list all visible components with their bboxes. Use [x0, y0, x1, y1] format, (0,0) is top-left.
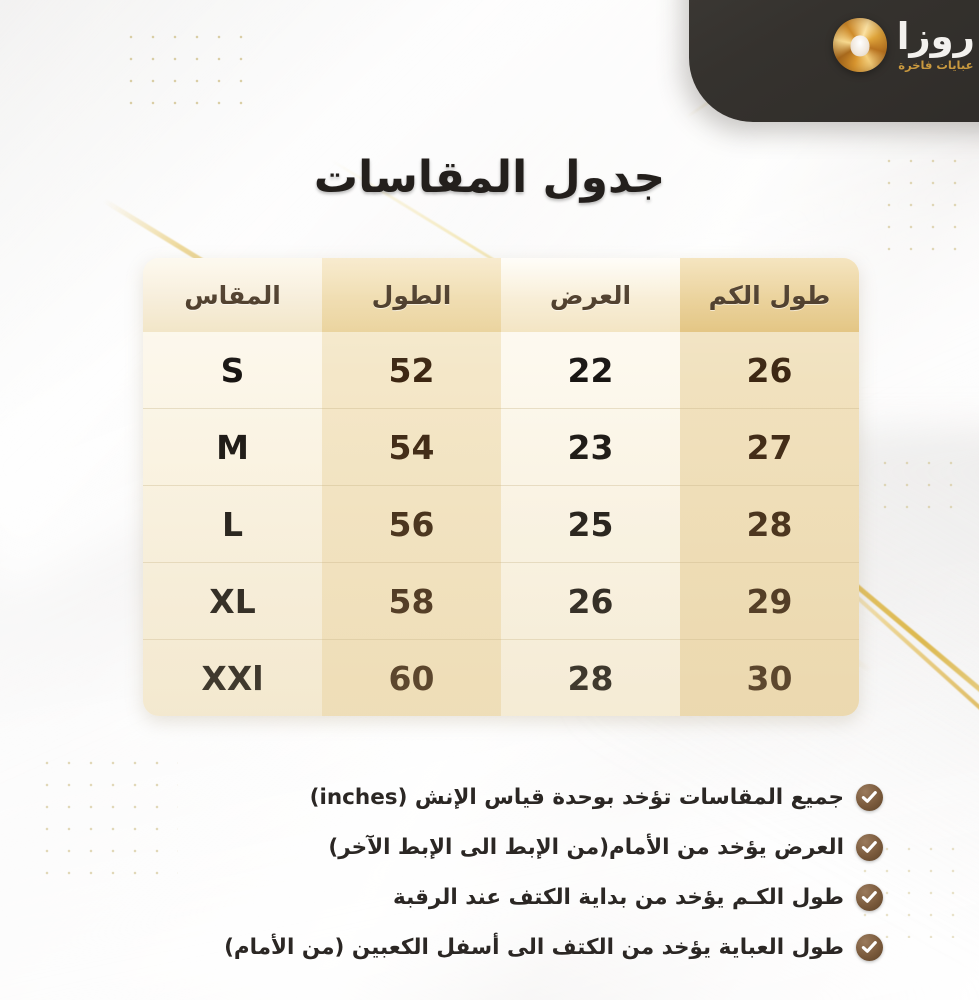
brand-logo: روزا عبايات فاخرة: [833, 18, 975, 72]
check-badge-icon: [856, 884, 883, 911]
brand-wordmark: روزا عبايات فاخرة: [897, 18, 975, 72]
cell-width: 22: [501, 332, 680, 409]
cell-size: S: [143, 332, 322, 409]
list-item: طول الكـم يؤخد من بداية الكتف عند الرقبة: [93, 872, 883, 922]
cell-length: 52: [322, 332, 501, 409]
column-header-size: المقاس: [143, 258, 322, 332]
cell-length: 60: [322, 640, 501, 717]
column-header-width: العرض: [501, 258, 680, 332]
cell-size: L: [143, 486, 322, 563]
list-item: جميع المقاسات تؤخد بوحدة قياس الإنش (inc…: [93, 772, 883, 822]
cell-length: 54: [322, 409, 501, 486]
cell-sleeve-length: 30: [680, 640, 859, 717]
cell-sleeve-length: 27: [680, 409, 859, 486]
dot-grid-middle-right: [874, 452, 966, 520]
size-table: طول الكم العرض الطول المقاس 26 22 52 S 2…: [143, 258, 859, 716]
note-text: طول العباية يؤخد من الكتف الى أسفل الكعب…: [224, 935, 844, 960]
check-badge-icon: [856, 834, 883, 861]
cell-width: 26: [501, 563, 680, 640]
check-badge-icon: [856, 784, 883, 811]
table-row: 28 25 56 L: [143, 486, 859, 563]
size-table-container: طول الكم العرض الطول المقاس 26 22 52 S 2…: [143, 258, 859, 716]
table-row: 29 26 58 XL: [143, 563, 859, 640]
size-table-body: 26 22 52 S 27 23 54 M 28 25 56 L: [143, 332, 859, 716]
column-header-length: الطول: [322, 258, 501, 332]
rose-swirl-icon: [833, 18, 887, 72]
cell-width: 28: [501, 640, 680, 717]
cell-size: M: [143, 409, 322, 486]
size-table-header: طول الكم العرض الطول المقاس: [143, 258, 859, 332]
note-text: جميع المقاسات تؤخد بوحدة قياس الإنش (inc…: [310, 785, 844, 810]
cell-size: XL: [143, 563, 322, 640]
page-title: جدول المقاسات: [0, 152, 979, 203]
list-item: طول العباية يؤخد من الكتف الى أسفل الكعب…: [93, 922, 883, 972]
table-row: 26 22 52 S: [143, 332, 859, 409]
cell-sleeve-length: 29: [680, 563, 859, 640]
brand-logo-panel: روزا عبايات فاخرة: [689, 0, 979, 122]
dot-grid-top-left: [120, 26, 250, 114]
note-text: العرض يؤخد من الأمام(من الإبط الى الإبط …: [328, 835, 844, 860]
cell-length: 58: [322, 563, 501, 640]
cell-length: 56: [322, 486, 501, 563]
list-item: العرض يؤخد من الأمام(من الإبط الى الإبط …: [93, 822, 883, 872]
cell-sleeve-length: 26: [680, 332, 859, 409]
table-row: 30 28 60 XXl: [143, 640, 859, 717]
cell-size: XXl: [143, 640, 322, 717]
brand-name: روزا: [897, 18, 975, 55]
size-table-header-row: طول الكم العرض الطول المقاس: [143, 258, 859, 332]
check-badge-icon: [856, 934, 883, 961]
table-row: 27 23 54 M: [143, 409, 859, 486]
column-header-sleeve-length: طول الكم: [680, 258, 859, 332]
note-text: طول الكـم يؤخد من بداية الكتف عند الرقبة: [393, 885, 844, 910]
cell-width: 25: [501, 486, 680, 563]
size-chart-poster: روزا عبايات فاخرة جدول المقاسات طول الكم…: [0, 0, 979, 1000]
brand-tagline: عبايات فاخرة: [898, 60, 973, 72]
measurement-notes-list: جميع المقاسات تؤخد بوحدة قياس الإنش (inc…: [93, 772, 883, 972]
cell-sleeve-length: 28: [680, 486, 859, 563]
cell-width: 23: [501, 409, 680, 486]
